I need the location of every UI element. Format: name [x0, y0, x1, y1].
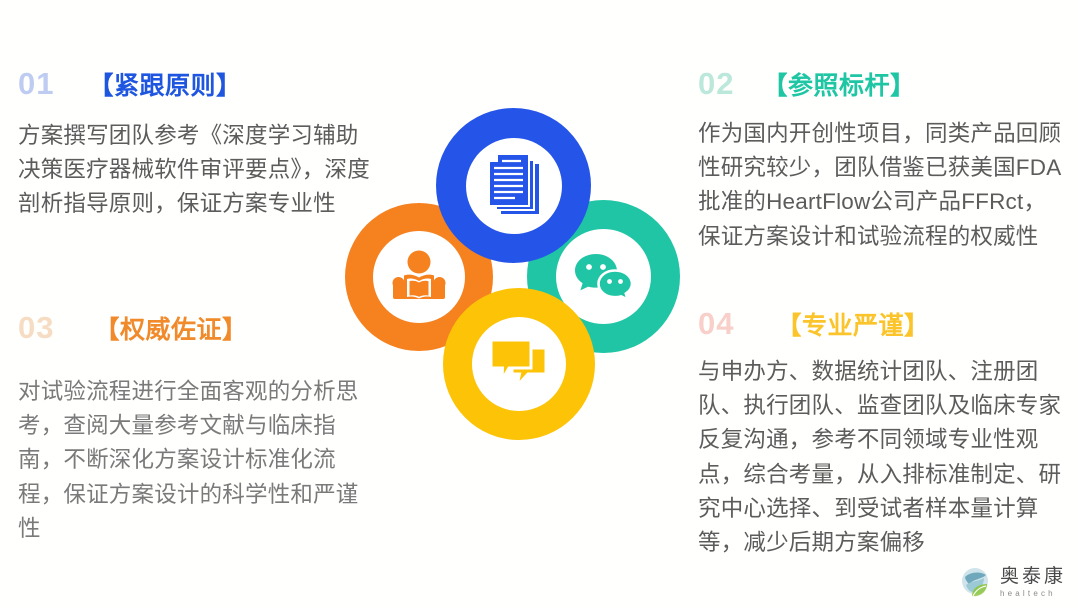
ring-chat-bubbles [443, 288, 595, 440]
panel-03-number: 03 [18, 312, 54, 343]
panel-01-title: 【紧跟原则】 [88, 74, 241, 99]
panel-02-number: 02 [698, 68, 734, 99]
panel-04: 04 【专业严谨】 与申办方、数据统计团队、注册团队、执行团队、监查团队及临床专… [698, 308, 1070, 560]
panel-03-header: 03 【权威佐证】 [18, 312, 378, 343]
brand-logo: 奥泰康 healtech [960, 566, 1066, 598]
ring-yellow-inner-disc [472, 317, 566, 411]
panel-01-number: 01 [18, 68, 54, 99]
panel-02-header: 02 【参照标杆】 [698, 68, 1066, 99]
logo-wordmark: 奥泰康 healtech [1000, 567, 1066, 598]
panel-02-body: 作为国内开创性项目，同类产品回顾性研究较少，团队借鉴已获美国FDA批准的Hear… [698, 117, 1066, 254]
panel-04-header: 04 【专业严谨】 [698, 308, 1070, 339]
logo-name-en: healtech [1000, 590, 1066, 598]
panel-04-body: 与申办方、数据统计团队、注册团队、执行团队、监查团队及临床专家反复沟通，参考不同… [698, 355, 1070, 560]
panel-04-number: 04 [698, 308, 734, 339]
center-graphic [340, 100, 690, 440]
wechat-bubbles-icon [573, 250, 635, 304]
panel-01: 01 【紧跟原则】 方案撰写团队参考《深度学习辅助决策医疗器械软件审评要点》，深… [18, 68, 370, 222]
panel-04-title: 【专业严谨】 [776, 314, 929, 339]
panel-01-body: 方案撰写团队参考《深度学习辅助决策医疗器械软件审评要点》，深度剖析指导原则，保证… [18, 119, 370, 222]
person-reading-icon [390, 250, 448, 304]
ring-documents [436, 108, 591, 263]
panel-02-title: 【参照标杆】 [762, 74, 915, 99]
panel-03-title: 【权威佐证】 [94, 318, 247, 343]
panel-01-header: 01 【紧跟原则】 [18, 68, 370, 99]
panel-03-body: 对试验流程进行全面客观的分析思考，查阅大量参考文献与临床指南，不断深化方案设计标… [18, 375, 378, 546]
chat-bubbles-icon [488, 338, 550, 390]
documents-icon [485, 154, 543, 218]
ring-blue-inner-disc [466, 138, 562, 234]
logo-name-cn: 奥泰康 [1000, 567, 1066, 586]
panel-03: 03 【权威佐证】 对试验流程进行全面客观的分析思考，查阅大量参考文献与临床指南… [18, 312, 378, 546]
globe-leaf-icon [960, 566, 992, 598]
panel-02: 02 【参照标杆】 作为国内开创性项目，同类产品回顾性研究较少，团队借鉴已获美国… [698, 68, 1066, 254]
ring-orange-inner-disc [373, 231, 465, 323]
